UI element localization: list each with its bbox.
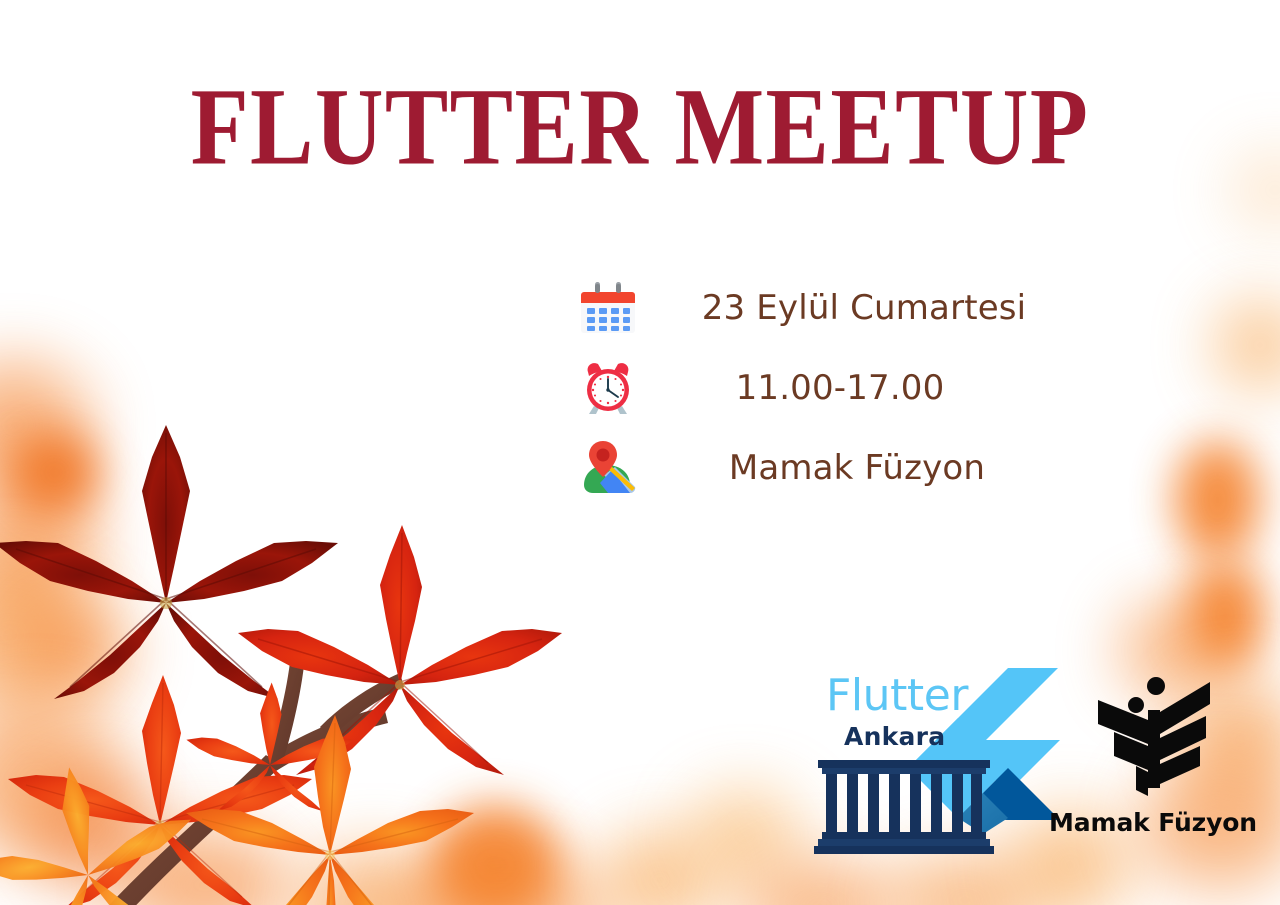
mamak-fuzyon-logo: Mamak Füzyon (1048, 672, 1258, 854)
mamak-fuzyon-word: Mamak Füzyon (1048, 808, 1258, 837)
poster-title-wrap: FLUTTER MEETUP (0, 72, 1280, 167)
calendar-icon (572, 280, 644, 336)
flutter-ankara-logo: Flutter Ankara (812, 662, 1060, 854)
autumn-maple-leaves (0, 355, 620, 905)
detail-row-date: 23 Eylül Cumartesi (572, 268, 1092, 348)
page-title: FLUTTER MEETUP (191, 72, 1090, 182)
flutter-ankara-secondary-word: Ankara (844, 722, 945, 751)
detail-text-date: 23 Eylül Cumartesi (644, 288, 1092, 328)
event-details: 23 Eylül Cumartesi (572, 268, 1092, 508)
detail-row-location: Mamak Füzyon (572, 428, 1092, 508)
anitkabir-building-icon (814, 754, 994, 858)
detail-text-time: 11.00-17.00 (644, 368, 1092, 408)
detail-row-time: 11.00-17.00 (572, 348, 1092, 428)
flutter-ankara-primary-word: Flutter (826, 670, 968, 721)
mamak-fuzyon-mark (1048, 672, 1258, 812)
poster-canvas: FLUTTER MEETUP (0, 0, 1280, 905)
detail-text-location: Mamak Füzyon (644, 448, 1092, 488)
alarm-clock-icon (572, 360, 644, 416)
map-pin-icon (572, 439, 644, 497)
